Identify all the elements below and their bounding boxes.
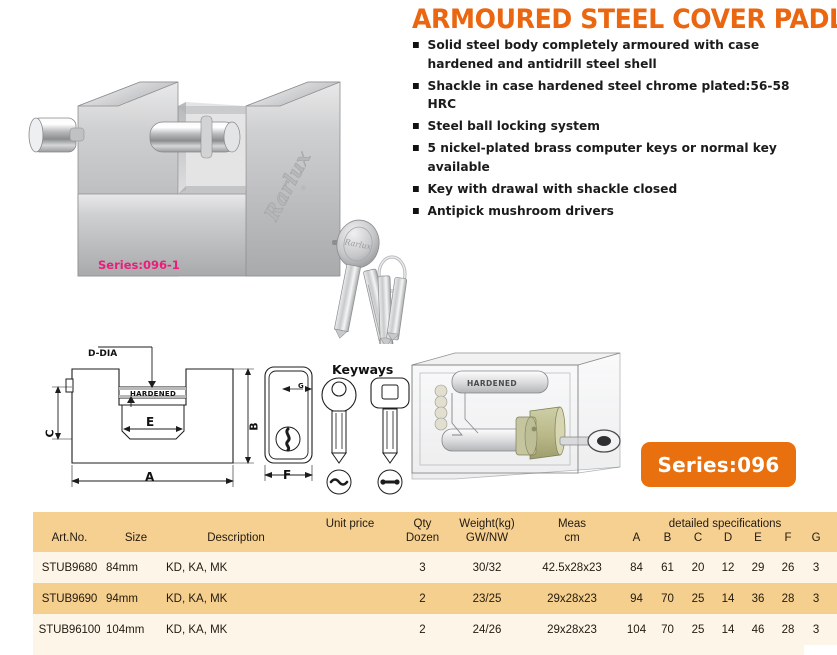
table-header-row-top: Unit price Qty Weight(kg) Meas detailed …: [33, 512, 837, 531]
table-body: STUB9680 84mm KD, KA, MK 3 30/32 42.5x28…: [33, 552, 837, 645]
cell-qty-dozen: 2: [394, 583, 451, 614]
th-d: D: [713, 531, 743, 552]
cell-description: KD, KA, MK: [166, 552, 306, 583]
spec-table: Unit price Qty Weight(kg) Meas detailed …: [33, 512, 837, 645]
th-e: E: [743, 531, 773, 552]
label-c: C: [44, 429, 57, 437]
cell-b: 70: [652, 614, 683, 645]
list-item: Shackle in case hardened steel chrome pl…: [412, 77, 819, 114]
cell-d: 12: [713, 552, 743, 583]
feature-text: Antipick mushroom drivers: [428, 203, 614, 218]
feature-text: Steel ball locking system: [428, 118, 600, 133]
product-datasheet: ARMOURED STEEL COVER PADLOCK Solid steel…: [0, 0, 837, 641]
cell-size: 104mm: [106, 614, 166, 645]
cell-meas: 42.5x28x23: [523, 552, 621, 583]
label-g: G: [298, 382, 304, 390]
label-f: F: [283, 468, 291, 482]
table-row[interactable]: STUB9690 94mm KD, KA, MK 2 23/25 29x28x2…: [33, 583, 837, 614]
feature-text: Shackle in case hardened steel chrome pl…: [428, 78, 790, 112]
cell-art-no: STUB9680: [33, 552, 106, 583]
list-item: Key with drawal with shackle closed: [412, 180, 819, 199]
feature-text: 5 nickel-plated brass computer keys or n…: [428, 140, 777, 174]
list-item: Antipick mushroom drivers: [412, 202, 819, 221]
product-photo: Rarlux ® Rarlux: [18, 44, 418, 344]
th-art-no: Art.No.: [33, 531, 106, 552]
cell-pins-no: 6x2: [829, 583, 837, 614]
cell-art-no: STUB96100: [33, 614, 106, 645]
cell-qty-dozen: 2: [394, 614, 451, 645]
cell-description: KD, KA, MK: [166, 614, 306, 645]
cell-e: 29: [743, 552, 773, 583]
cell-g: 3: [803, 614, 829, 645]
cell-c: 20: [683, 552, 713, 583]
cell-pins-no: 6x2: [829, 614, 837, 645]
th-a: A: [621, 531, 652, 552]
cell-d: 14: [713, 614, 743, 645]
cell-qty-dozen: 3: [394, 552, 451, 583]
cell-unit-price: [306, 614, 394, 645]
spec-table-wrapper: Unit price Qty Weight(kg) Meas detailed …: [33, 512, 804, 655]
cell-pins-no: 6x2: [829, 552, 837, 583]
th-weight: Weight(kg): [451, 512, 523, 531]
th-pins-no: pins No.: [829, 531, 837, 552]
table-footer-strip: [33, 645, 804, 655]
th-c: C: [683, 531, 713, 552]
table-header-row-bottom: Art.No. Size Description Dozen GW/NW cm …: [33, 531, 837, 552]
technical-drawings: HARDENED: [0, 345, 837, 515]
label-e: E: [146, 415, 154, 429]
label-hardened: HARDENED: [130, 390, 176, 398]
cell-weight: 30/32: [451, 552, 523, 583]
th-dozen: Dozen: [394, 531, 451, 552]
th-unit-price: Unit price: [306, 512, 394, 531]
cell-art-no: STUB9690: [33, 583, 106, 614]
cell-a: 104: [621, 614, 652, 645]
th-detailed-specifications: detailed specifications: [621, 512, 829, 531]
th-qty: Qty: [394, 512, 451, 531]
cell-weight: 24/26: [451, 614, 523, 645]
cell-f: 28: [773, 614, 803, 645]
cell-f: 28: [773, 583, 803, 614]
cell-g: 3: [803, 583, 829, 614]
cell-g: 3: [803, 552, 829, 583]
svg-text:HARDENED: HARDENED: [467, 379, 517, 388]
table-row[interactable]: STUB96100 104mm KD, KA, MK 2 24/26 29x28…: [33, 614, 837, 645]
cell-size: 94mm: [106, 583, 166, 614]
label-d-dia: D-DIA: [88, 349, 117, 359]
cell-c: 25: [683, 583, 713, 614]
th-gw-nw: GW/NW: [451, 531, 523, 552]
table-row[interactable]: STUB9680 84mm KD, KA, MK 3 30/32 42.5x28…: [33, 552, 837, 583]
label-a: A: [145, 470, 154, 484]
list-item: Steel ball locking system: [412, 117, 819, 136]
cell-description: KD, KA, MK: [166, 583, 306, 614]
cell-unit-price: [306, 552, 394, 583]
th-f: F: [773, 531, 803, 552]
cell-e: 46: [743, 614, 773, 645]
cell-unit-price: [306, 583, 394, 614]
th-size: Size: [106, 531, 166, 552]
table-head: Unit price Qty Weight(kg) Meas detailed …: [33, 512, 837, 552]
th-cm: cm: [523, 531, 621, 552]
photo-caption: Series:096-1: [98, 258, 180, 272]
feature-text: Solid steel body completely armoured wit…: [428, 37, 760, 71]
th-unit-price-2: [306, 531, 394, 552]
series-badge-label: Series:096: [658, 453, 780, 477]
cell-b: 70: [652, 583, 683, 614]
keyways-title: Keyways: [332, 362, 393, 377]
th-blank-2: [106, 512, 166, 531]
th-b: B: [652, 531, 683, 552]
feature-text: Key with drawal with shackle closed: [428, 181, 678, 196]
cell-e: 36: [743, 583, 773, 614]
feature-list: Solid steel body completely armoured wit…: [412, 36, 832, 224]
cell-c: 25: [683, 614, 713, 645]
cell-weight: 23/25: [451, 583, 523, 614]
cell-a: 84: [621, 552, 652, 583]
th-meas: Meas: [523, 512, 621, 531]
list-item: 5 nickel-plated brass computer keys or n…: [412, 139, 819, 176]
label-b: B: [248, 422, 261, 430]
cell-d: 14: [713, 583, 743, 614]
cell-a: 94: [621, 583, 652, 614]
cell-meas: 29x28x23: [523, 614, 621, 645]
cell-b: 61: [652, 552, 683, 583]
cell-f: 26: [773, 552, 803, 583]
th-blank-4: [829, 512, 837, 531]
page-title: ARMOURED STEEL COVER PADLOCK: [412, 4, 837, 35]
th-blank-3: [166, 512, 306, 531]
th-g: G: [803, 531, 829, 552]
th-blank-1: [33, 512, 106, 531]
list-item: Solid steel body completely armoured wit…: [412, 36, 819, 73]
cell-size: 84mm: [106, 552, 166, 583]
cell-meas: 29x28x23: [523, 583, 621, 614]
th-description: Description: [166, 531, 306, 552]
series-badge: Series:096: [641, 442, 796, 487]
